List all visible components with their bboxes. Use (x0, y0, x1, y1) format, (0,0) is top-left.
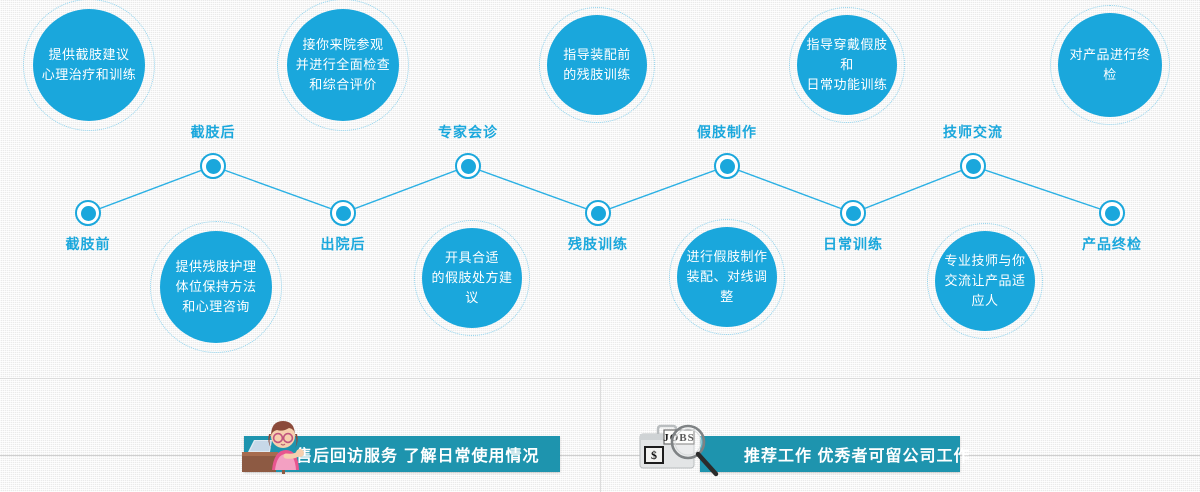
svg-text:$: $ (651, 448, 657, 462)
bubble-pre-amputation-disc: 提供截肢建议 心理治疗和训练 (33, 9, 145, 121)
job-referral-banner-label: 推荐工作 优秀者可留公司工作 (744, 442, 970, 466)
bubble-prosthesis[interactable]: 进行假肢制作 装配、对线调整 (669, 219, 785, 335)
infographic-canvas: 截肢前截肢后出院后专家会诊残肢训练假肢制作日常训练技师交流产品终检 提供截肢建议… (0, 0, 1200, 492)
bubble-final-inspect[interactable]: 对产品进行终检 (1050, 5, 1170, 125)
bubble-post-discharge[interactable]: 接你来院参观 并进行全面检查 和综合评价 (277, 0, 409, 131)
bubble-post-amputation[interactable]: 提供残肢护理 体位保持方法 和心理咨询 (150, 221, 282, 353)
timeline-node-pre-amputation[interactable] (75, 200, 101, 226)
woman-at-desk-icon (238, 414, 308, 476)
bubble-technician-disc: 专业技师与你 交流让产品适应人 (935, 231, 1035, 331)
bubble-pre-amputation[interactable]: 提供截肢建议 心理治疗和训练 (23, 0, 155, 131)
timeline-node-label-technician-talk: 技师交流 (943, 122, 1003, 142)
timeline-node-final-inspection[interactable] (1099, 200, 1125, 226)
jobs-briefcase-magnifier-icon: JOBS $ (636, 418, 722, 480)
timeline-node-label-post-amputation: 截肢后 (191, 122, 236, 142)
bubble-post-discharge-disc: 接你来院参观 并进行全面检查 和综合评价 (287, 9, 399, 121)
timeline-node-label-post-discharge: 出院后 (321, 234, 366, 254)
bubble-prosthesis-disc: 进行假肢制作 装配、对线调整 (677, 227, 777, 327)
bubble-post-amputation-disc: 提供残肢护理 体位保持方法 和心理咨询 (160, 231, 272, 343)
bubble-stump-training-text: 指导装配前 的残肢训练 (557, 45, 637, 85)
bubble-final-inspect-text: 对产品进行终检 (1058, 45, 1162, 85)
section-divider-vertical (600, 379, 601, 492)
banner-connector-left (0, 455, 244, 456)
timeline-node-label-prosthesis-make: 假肢制作 (697, 122, 757, 142)
bubble-final-inspect-disc: 对产品进行终检 (1058, 13, 1162, 117)
timeline-node-label-expert-consult: 专家会诊 (438, 122, 498, 142)
timeline-node-post-discharge[interactable] (330, 200, 356, 226)
timeline-node-daily-training[interactable] (840, 200, 866, 226)
timeline-node-label-pre-amputation: 截肢前 (66, 234, 111, 254)
after-sales-banner-label: 售后回访服务 了解日常使用情况 (296, 442, 539, 466)
timeline-node-label-final-inspection: 产品终检 (1082, 234, 1142, 254)
timeline-node-label-stump-training: 残肢训练 (568, 234, 628, 254)
bubble-daily-training-text: 指导穿戴假肢和 日常功能训练 (797, 35, 897, 95)
bubble-expert-consult-text: 开具合适 的假肢处方建议 (422, 248, 522, 308)
timeline-node-label-daily-training: 日常训练 (823, 234, 883, 254)
banner-connector-right (960, 455, 1200, 456)
bubble-daily-training[interactable]: 指导穿戴假肢和 日常功能训练 (789, 7, 905, 123)
timeline-node-stump-training[interactable] (585, 200, 611, 226)
bubble-technician-text: 专业技师与你 交流让产品适应人 (935, 251, 1035, 311)
bubble-stump-training-disc: 指导装配前 的残肢训练 (547, 15, 647, 115)
timeline-node-prosthesis-make[interactable] (714, 153, 740, 179)
bubble-post-amputation-text: 提供残肢护理 体位保持方法 和心理咨询 (169, 257, 262, 317)
job-referral-banner-bar[interactable]: 推荐工作 优秀者可留公司工作 (700, 436, 960, 472)
bubble-technician[interactable]: 专业技师与你 交流让产品适应人 (927, 223, 1043, 339)
bubble-prosthesis-text: 进行假肢制作 装配、对线调整 (677, 247, 777, 307)
bubble-daily-training-disc: 指导穿戴假肢和 日常功能训练 (797, 15, 897, 115)
timeline-node-post-amputation[interactable] (200, 153, 226, 179)
timeline-node-technician-talk[interactable] (960, 153, 986, 179)
timeline-node-expert-consult[interactable] (455, 153, 481, 179)
bubble-pre-amputation-text: 提供截肢建议 心理治疗和训练 (36, 45, 143, 85)
bubble-expert-consult-disc: 开具合适 的假肢处方建议 (422, 228, 522, 328)
bubble-post-discharge-text: 接你来院参观 并进行全面检查 和综合评价 (290, 35, 397, 95)
bubble-expert-consult[interactable]: 开具合适 的假肢处方建议 (414, 220, 530, 336)
bubble-stump-training[interactable]: 指导装配前 的残肢训练 (539, 7, 655, 123)
